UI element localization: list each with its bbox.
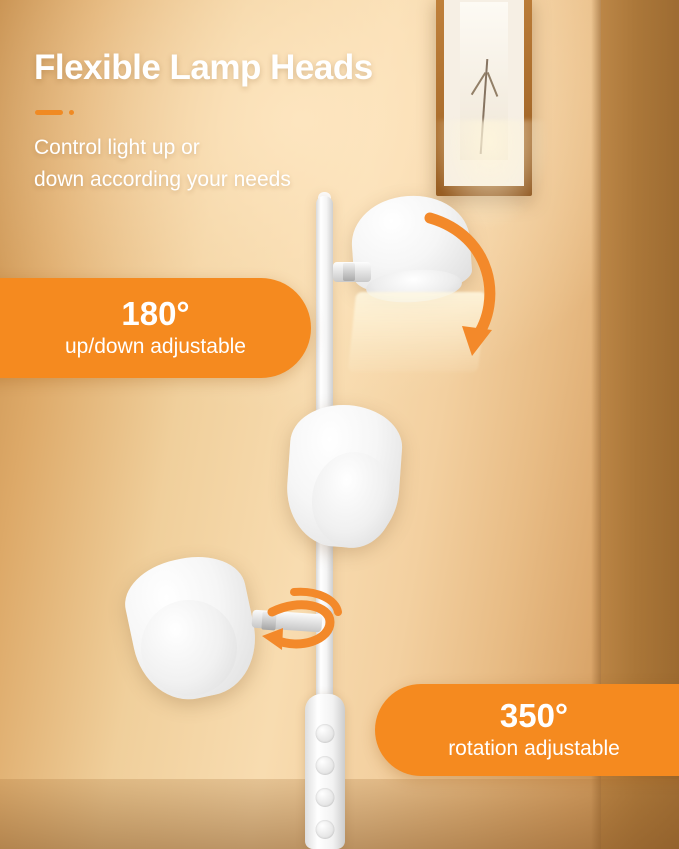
badge-350-caption: rotation adjustable [448, 736, 620, 762]
lamp-control-panel[interactable] [305, 694, 345, 849]
upper-lamp-light-beam [348, 292, 486, 372]
rotation-arrow-head [262, 628, 283, 650]
subtitle-line-1: Control light up or [34, 132, 291, 164]
upper-lamp-joint [343, 263, 355, 281]
subtitle-line-2: down according your needs [34, 164, 291, 196]
control-button-3[interactable] [316, 788, 335, 807]
subtitle: Control light up or down according your … [34, 132, 291, 196]
control-button-1[interactable] [316, 724, 335, 743]
badge-350-number: 350° [500, 698, 568, 734]
divider-dot [69, 110, 74, 115]
badge-180-number: 180° [121, 296, 189, 332]
title-divider [35, 110, 74, 115]
badge-180-caption: up/down adjustable [65, 334, 246, 360]
control-button-2[interactable] [316, 756, 335, 775]
lower-lamp-joint [261, 612, 276, 631]
product-marketing-image: Flexible Lamp Heads Control light up or … [0, 0, 679, 849]
divider-bar [35, 110, 63, 115]
control-button-4[interactable] [316, 820, 335, 839]
badge-180-degrees: 180° up/down adjustable [0, 278, 311, 378]
badge-350-degrees: 350° rotation adjustable [375, 684, 679, 776]
page-title: Flexible Lamp Heads [34, 48, 373, 88]
